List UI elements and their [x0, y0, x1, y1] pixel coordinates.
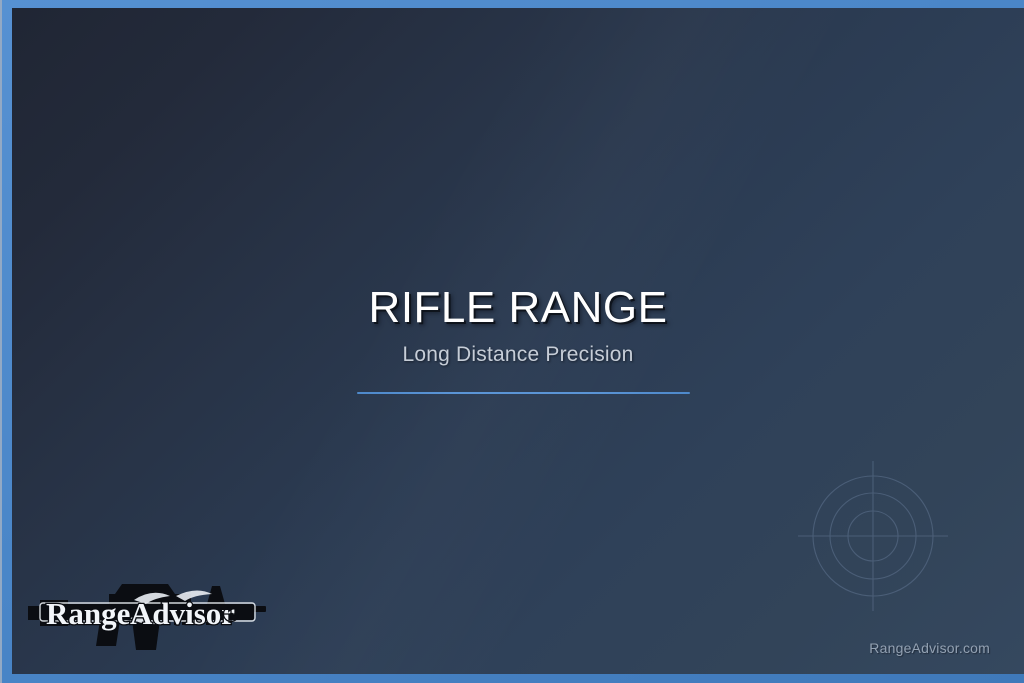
title-block: RIFLE RANGE Long Distance Precision — [12, 284, 1024, 367]
brand-wordmark-range: Range — [46, 596, 130, 631]
crosshair-target-icon — [798, 461, 948, 611]
brand-wordmark: Range Advisor — [46, 596, 235, 631]
presentation-slide-canvas: RIFLE RANGE Long Distance Precision — [0, 0, 1024, 683]
brand-wordmark-advisor: Advisor — [130, 596, 235, 631]
page-title: RIFLE RANGE — [12, 284, 1024, 332]
page-subtitle: Long Distance Precision — [12, 342, 1024, 367]
title-underline-rule — [357, 392, 690, 394]
slide-surface: RIFLE RANGE Long Distance Precision — [12, 8, 1024, 674]
brand-logo: Range Advisor — [26, 566, 284, 666]
site-watermark: RangeAdvisor.com — [869, 640, 990, 656]
